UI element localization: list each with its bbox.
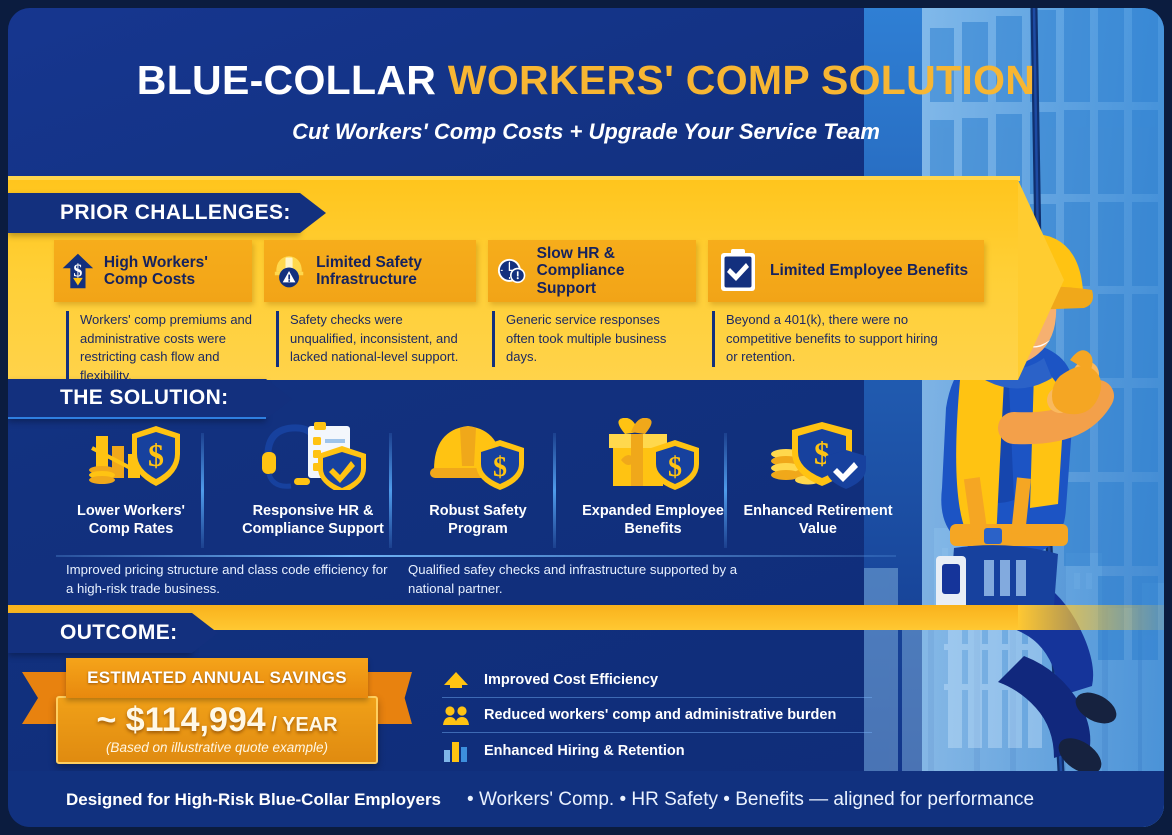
bar-chart-icon [442, 740, 470, 762]
page-subtitle: Cut Workers' Comp Costs + Upgrade Your S… [8, 119, 1164, 145]
svg-text:$: $ [668, 452, 682, 483]
page-title: BLUE-COLLAR WORKERS' COMP SOLUTION [8, 60, 1164, 101]
dollar-up-arrow-icon: $ [62, 245, 94, 297]
challenge-title-2: Limited Safety Infrastructure [316, 254, 466, 289]
ribbon-header: ESTIMATED ANNUAL SAVINGS [66, 658, 368, 698]
challenge-body-1: Workers' comp premiums and administrativ… [66, 311, 252, 386]
solution-item-1: $ Lower Workers' Comp Rates [56, 418, 206, 538]
outcome-benefit-label-2: Reduced workers' comp and administrative… [484, 707, 836, 723]
infographic-root: BLUE-COLLAR WORKERS' COMP SOLUTION Cut W… [0, 0, 1172, 835]
up-arrow-icon [442, 670, 470, 690]
clock-exclamation-icon [496, 246, 527, 296]
hard-hat-shield-dollar-icon: $ [403, 418, 553, 490]
ribbon-body: ~ $114,994 / YEAR (Based on illustrative… [56, 696, 378, 764]
footer-left-text: Designed for High-Risk Blue-Collar Emplo… [66, 790, 441, 810]
outcome-benefit-row-2: Reduced workers' comp and administrative… [442, 698, 872, 733]
svg-text:$: $ [73, 261, 82, 281]
challenge-title-1: High Workers' Comp Costs [104, 254, 242, 289]
outcome-benefit-row-3: Enhanced Hiring & Retention [442, 733, 872, 768]
solution-item-3: $ Robust Safety Program [403, 418, 553, 538]
solution-title-4: Expanded Employee Benefits [568, 502, 738, 538]
savings-amount: ~ $114,994 / YEAR [58, 702, 376, 739]
savings-amount-value: ~ $114,994 [96, 701, 265, 739]
outcome-banner: OUTCOME: [8, 613, 192, 653]
svg-text:$: $ [493, 452, 507, 483]
challenge-card-2: Limited Safety Infrastructure [264, 240, 476, 302]
headset-clipboard-check-icon [223, 418, 403, 490]
solution-item-2: Responsive HR & Compliance Support [223, 418, 403, 538]
challenges-banner: PRIOR CHALLENGES: [8, 193, 300, 233]
solution-title-3: Robust Safety Program [403, 502, 553, 538]
outcome-benefit-label-3: Enhanced Hiring & Retention [484, 743, 685, 759]
infographic-card: BLUE-COLLAR WORKERS' COMP SOLUTION Cut W… [8, 8, 1164, 827]
challenge-body-4: Beyond a 401(k), there were no competiti… [712, 311, 942, 367]
header: BLUE-COLLAR WORKERS' COMP SOLUTION Cut W… [8, 8, 1164, 176]
savings-period: / YEAR [266, 714, 338, 736]
challenge-card-4: Limited Employee Benefits [708, 240, 984, 302]
challenge-body-2: Safety checks were unqualified, inconsis… [276, 311, 472, 367]
challenge-card-1: $ High Workers' Comp Costs [54, 240, 252, 302]
challenge-card-3: Slow HR & Compliance Support [488, 240, 696, 302]
solution-banner-label: THE SOLUTION: [60, 386, 229, 410]
outcome-benefit-label-1: Improved Cost Efficiency [484, 672, 658, 688]
savings-note: (Based on illustrative quote example) [58, 740, 376, 755]
hard-hat-warning-icon [272, 246, 306, 296]
people-icon [442, 705, 470, 725]
challenge-body-3: Generic service responses often took mul… [492, 311, 688, 367]
title-part-white: BLUE-COLLAR [137, 57, 448, 103]
footer-right-text: • Workers' Comp. • HR Safety • Benefits … [467, 789, 1034, 811]
chart-down-shield-dollar-icon: $ [56, 418, 206, 490]
ribbon-title: ESTIMATED ANNUAL SAVINGS [87, 668, 347, 688]
outcome-banner-label: OUTCOME: [60, 621, 178, 645]
solution-title-1: Lower Workers' Comp Rates [56, 502, 206, 538]
challenge-title-4: Limited Employee Benefits [770, 262, 968, 279]
solution-description-1: Improved pricing structure and class cod… [66, 561, 396, 598]
solution-item-4: $ Expanded Employee Benefits [568, 418, 738, 538]
title-part-yellow: WORKERS' COMP SOLUTION [448, 57, 1035, 103]
challenge-title-3: Slow HR & Compliance Support [537, 245, 686, 297]
solution-rule [56, 555, 896, 557]
challenges-banner-label: PRIOR CHALLENGES: [60, 201, 291, 225]
solution-divider-3 [553, 433, 556, 548]
clipboard-check-icon [716, 246, 760, 296]
savings-ribbon: ~ $114,994 / YEAR (Based on illustrative… [56, 666, 378, 758]
footer: Designed for High-Risk Blue-Collar Emplo… [66, 789, 1034, 811]
solution-title-5: Enhanced Retirement Value [738, 502, 898, 538]
outcome-benefit-row-1: Improved Cost Efficiency [442, 663, 872, 698]
solution-description-2: Qualified safey checks and infrastructur… [408, 561, 738, 598]
solution-title-2: Responsive HR & Compliance Support [223, 502, 403, 538]
outcome-benefit-list: Improved Cost Efficiency Reduced workers… [442, 663, 872, 768]
coins-shield-check-icon: $ [738, 418, 898, 490]
svg-text:$: $ [148, 437, 164, 473]
solution-item-5: $ Enhanced Retirement Value [738, 418, 898, 538]
gift-box-shield-icon: $ [568, 418, 738, 490]
